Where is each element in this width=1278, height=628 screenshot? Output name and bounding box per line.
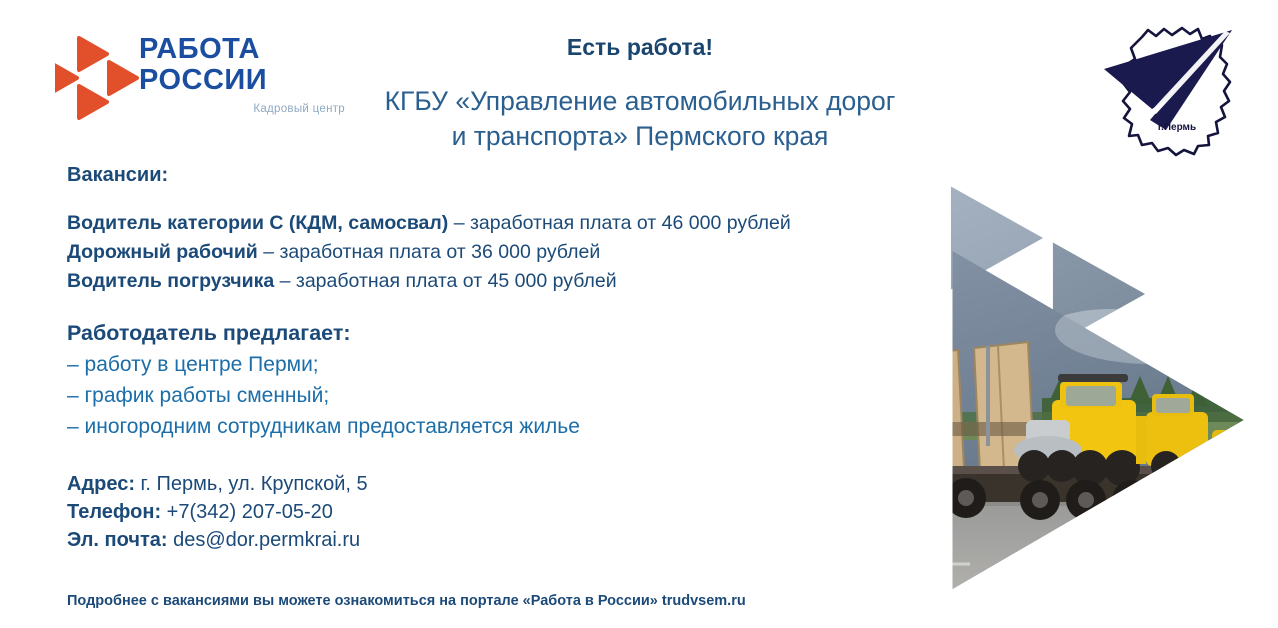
footer-note: Подробнее с вакансиями вы можете ознаком… <box>67 591 746 611</box>
vacancies-label: Вакансии: <box>67 163 168 187</box>
vacancy-title: Водитель категории С (КДМ, самосвал) <box>67 212 448 234</box>
road-machinery-photo <box>900 150 1278 628</box>
org-title-line1: КГБУ «Управление автомобильных дорог <box>300 84 980 119</box>
contact-value: г. Пермь, ул. Крупской, 5 <box>135 473 368 495</box>
brand-name-line1: РАБОТА <box>139 34 349 65</box>
four-triangles-icon <box>55 36 147 124</box>
vacancy-pay: – заработная плата от 45 000 рублей <box>274 270 616 292</box>
perm-region-map-icon: г.Пермь <box>1090 12 1265 162</box>
vacancy-title: Водитель погрузчика <box>67 270 274 292</box>
contact-email[interactable]: Эл. почта: des@dor.permkrai.ru <box>67 526 567 554</box>
poster-canvas: РАБОТА РОССИИ Кадровый центр г.Пермь Ест… <box>0 0 1278 628</box>
list-item: Дорожный рабочий – заработная плата от 3… <box>67 238 947 267</box>
list-item: – работу в центре Перми; <box>67 349 827 380</box>
contact-label: Телефон: <box>67 501 161 523</box>
list-item: – график работы сменный; <box>67 380 827 411</box>
contact-phone[interactable]: Телефон: +7(342) 207-05-20 <box>67 498 567 526</box>
contact-value[interactable]: +7(342) 207-05-20 <box>161 501 333 523</box>
contact-label: Эл. почта: <box>67 529 168 551</box>
vacancy-pay: – заработная плата от 46 000 рублей <box>448 212 790 234</box>
offer-title: Работодатель предлагает: <box>67 318 827 349</box>
list-item: Водитель категории С (КДМ, самосвал) – з… <box>67 209 947 238</box>
employer-offer-block: Работодатель предлагает: – работу в цент… <box>67 318 827 442</box>
vacancies-list: Водитель категории С (КДМ, самосвал) – з… <box>67 209 947 296</box>
contact-address: Адрес: г. Пермь, ул. Крупской, 5 <box>67 470 567 498</box>
organization-title: КГБУ «Управление автомобильных дорог и т… <box>300 84 980 154</box>
vacancy-title: Дорожный рабочий <box>67 241 258 263</box>
contact-label: Адрес: <box>67 473 135 495</box>
list-item: – иногородним сотрудникам предоставляетс… <box>67 411 827 442</box>
list-item: Водитель погрузчика – заработная плата о… <box>67 267 947 296</box>
contacts-block: Адрес: г. Пермь, ул. Крупской, 5 Телефон… <box>67 470 567 554</box>
vacancy-pay: – заработная плата от 36 000 рублей <box>258 241 600 263</box>
page-headline: Есть работа! <box>340 33 940 61</box>
contact-value[interactable]: des@dor.permkrai.ru <box>168 529 361 551</box>
org-title-line2: и транспорта» Пермского края <box>300 119 980 154</box>
emblem-caption: г.Пермь <box>1158 122 1196 133</box>
